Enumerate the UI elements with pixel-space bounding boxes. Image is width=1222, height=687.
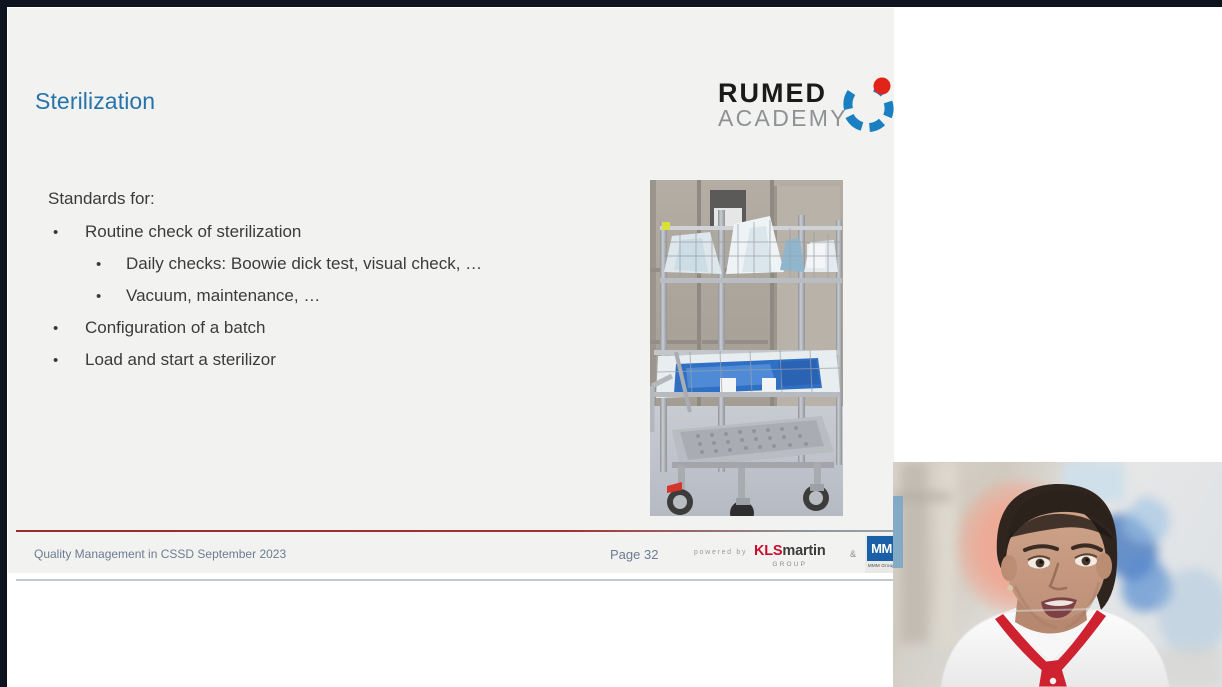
presenter-webcam-overlay[interactable] [893, 462, 1222, 687]
screen: Sterilization RUMED ACADEMY [0, 0, 1222, 687]
bullet-item: • Routine check of sterilization [48, 221, 608, 244]
slide-title: Sterilization [35, 88, 155, 115]
footer-course-title: Quality Management in CSSD September 202… [34, 547, 286, 561]
bullet-item: • Load and start a sterilizor [48, 349, 608, 372]
logo-text-academy: ACADEMY [718, 107, 848, 130]
rumed-academy-logo: RUMED ACADEMY [714, 76, 896, 138]
window-frame-left-edge [0, 0, 7, 687]
bullet-item: • Daily checks: Boowie dick test, visual… [48, 253, 608, 276]
sterile-cart-photo [650, 180, 843, 516]
bullet-dot-icon: • [96, 255, 126, 275]
footer-page-number: Page 32 [610, 547, 658, 562]
ampersand-separator: & [850, 549, 856, 559]
bullet-item: • Vacuum, maintenance, … [48, 285, 608, 308]
bullet-label: Load and start a sterilizor [85, 349, 608, 372]
bullet-dot-icon: • [53, 351, 85, 371]
presentation-slide: Sterilization RUMED ACADEMY [8, 8, 894, 573]
logo-text-rumed: RUMED [718, 80, 827, 107]
bullet-dot-icon: • [53, 223, 85, 243]
kls-logo-name: martin [782, 543, 825, 559]
footer-divider [16, 530, 902, 532]
bullet-label: Routine check of sterilization [85, 221, 608, 244]
mmm-logo-initials: MM [867, 536, 896, 561]
kls-logo-group-label: GROUP [754, 561, 826, 568]
kls-martin-logo: KLSmartin GROUP [754, 544, 826, 568]
bullet-item: • Configuration of a batch [48, 317, 608, 340]
slide-bottom-edge [16, 579, 902, 581]
bullet-label: Configuration of a batch [85, 317, 608, 340]
slide-body: Standards for: • Routine check of steril… [48, 188, 608, 381]
bullet-label: Vacuum, maintenance, … [126, 285, 608, 308]
powered-by-label: powered by [694, 549, 747, 556]
window-frame-top-edge [0, 0, 1222, 7]
bullet-label: Daily checks: Boowie dick test, visual c… [126, 253, 608, 276]
body-lead-line: Standards for: [48, 188, 608, 211]
bullet-dot-icon: • [96, 287, 126, 307]
bullet-dot-icon: • [53, 319, 85, 339]
rumed-circle-mark-icon [841, 76, 897, 139]
kls-logo-prefix: KLS [754, 543, 782, 559]
